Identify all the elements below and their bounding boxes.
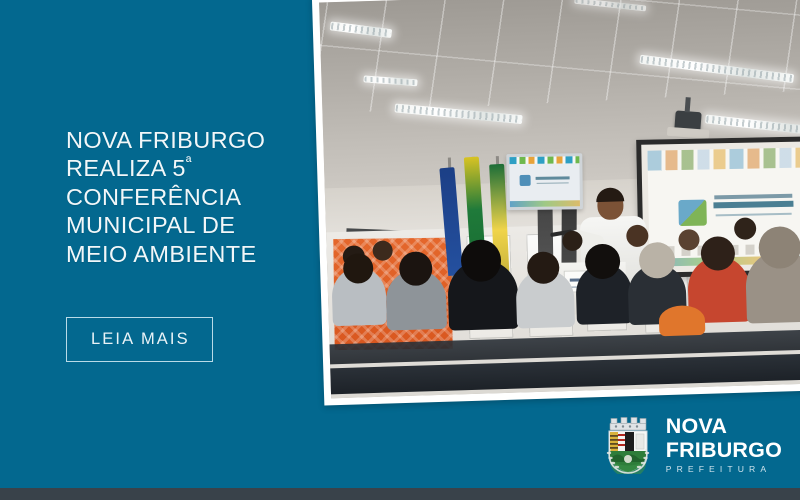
audience bbox=[326, 209, 800, 398]
nova-friburgo-coat-of-arms-icon bbox=[601, 416, 655, 474]
ceiling-tile-grid bbox=[319, 0, 800, 116]
attendee bbox=[758, 226, 800, 269]
logo-subtitle: PREFEITURA bbox=[666, 465, 782, 474]
page-title: NOVA FRIBURGOREALIZA 5ªCONFERÊNCIAMUNICI… bbox=[66, 126, 320, 269]
prefeitura-logo[interactable]: NOVA FRIBURGO PREFEITURA bbox=[601, 416, 782, 474]
attendee-orange-shirt bbox=[658, 305, 705, 336]
attendee bbox=[372, 240, 393, 261]
news-banner: NOVA FRIBURGOREALIZA 5ªCONFERÊNCIAMUNICI… bbox=[0, 0, 800, 500]
attendee bbox=[678, 229, 700, 251]
attendee bbox=[562, 230, 583, 251]
logo-line-2: FRIBURGO bbox=[666, 440, 782, 462]
wall-tv-monitor bbox=[506, 153, 583, 210]
banner-text-column: NOVA FRIBURGOREALIZA 5ªCONFERÊNCIAMUNICI… bbox=[0, 0, 320, 488]
headline-line-5: MEIO AMBIENTE bbox=[66, 241, 257, 267]
headline-line-3: CONFERÊNCIA bbox=[66, 184, 241, 210]
photo-image bbox=[319, 0, 800, 398]
photo-frame bbox=[312, 0, 800, 406]
logo-line-1: NOVA bbox=[666, 416, 782, 438]
bottom-strip bbox=[0, 488, 800, 500]
logo-wordmark: NOVA FRIBURGO PREFEITURA bbox=[666, 416, 782, 474]
attendee bbox=[734, 217, 757, 240]
headline-line-2: REALIZA 5 bbox=[66, 155, 186, 181]
headline-line-4: MUNICIPAL DE bbox=[66, 212, 235, 238]
hero-photo[interactable] bbox=[312, 0, 800, 406]
ceiling-projector-icon bbox=[674, 110, 702, 134]
read-more-button[interactable]: LEIA MAIS bbox=[66, 317, 213, 362]
headline-line-1: NOVA FRIBURGO bbox=[66, 127, 265, 153]
ordinal-indicator: ª bbox=[186, 154, 192, 171]
attendee bbox=[626, 224, 649, 247]
